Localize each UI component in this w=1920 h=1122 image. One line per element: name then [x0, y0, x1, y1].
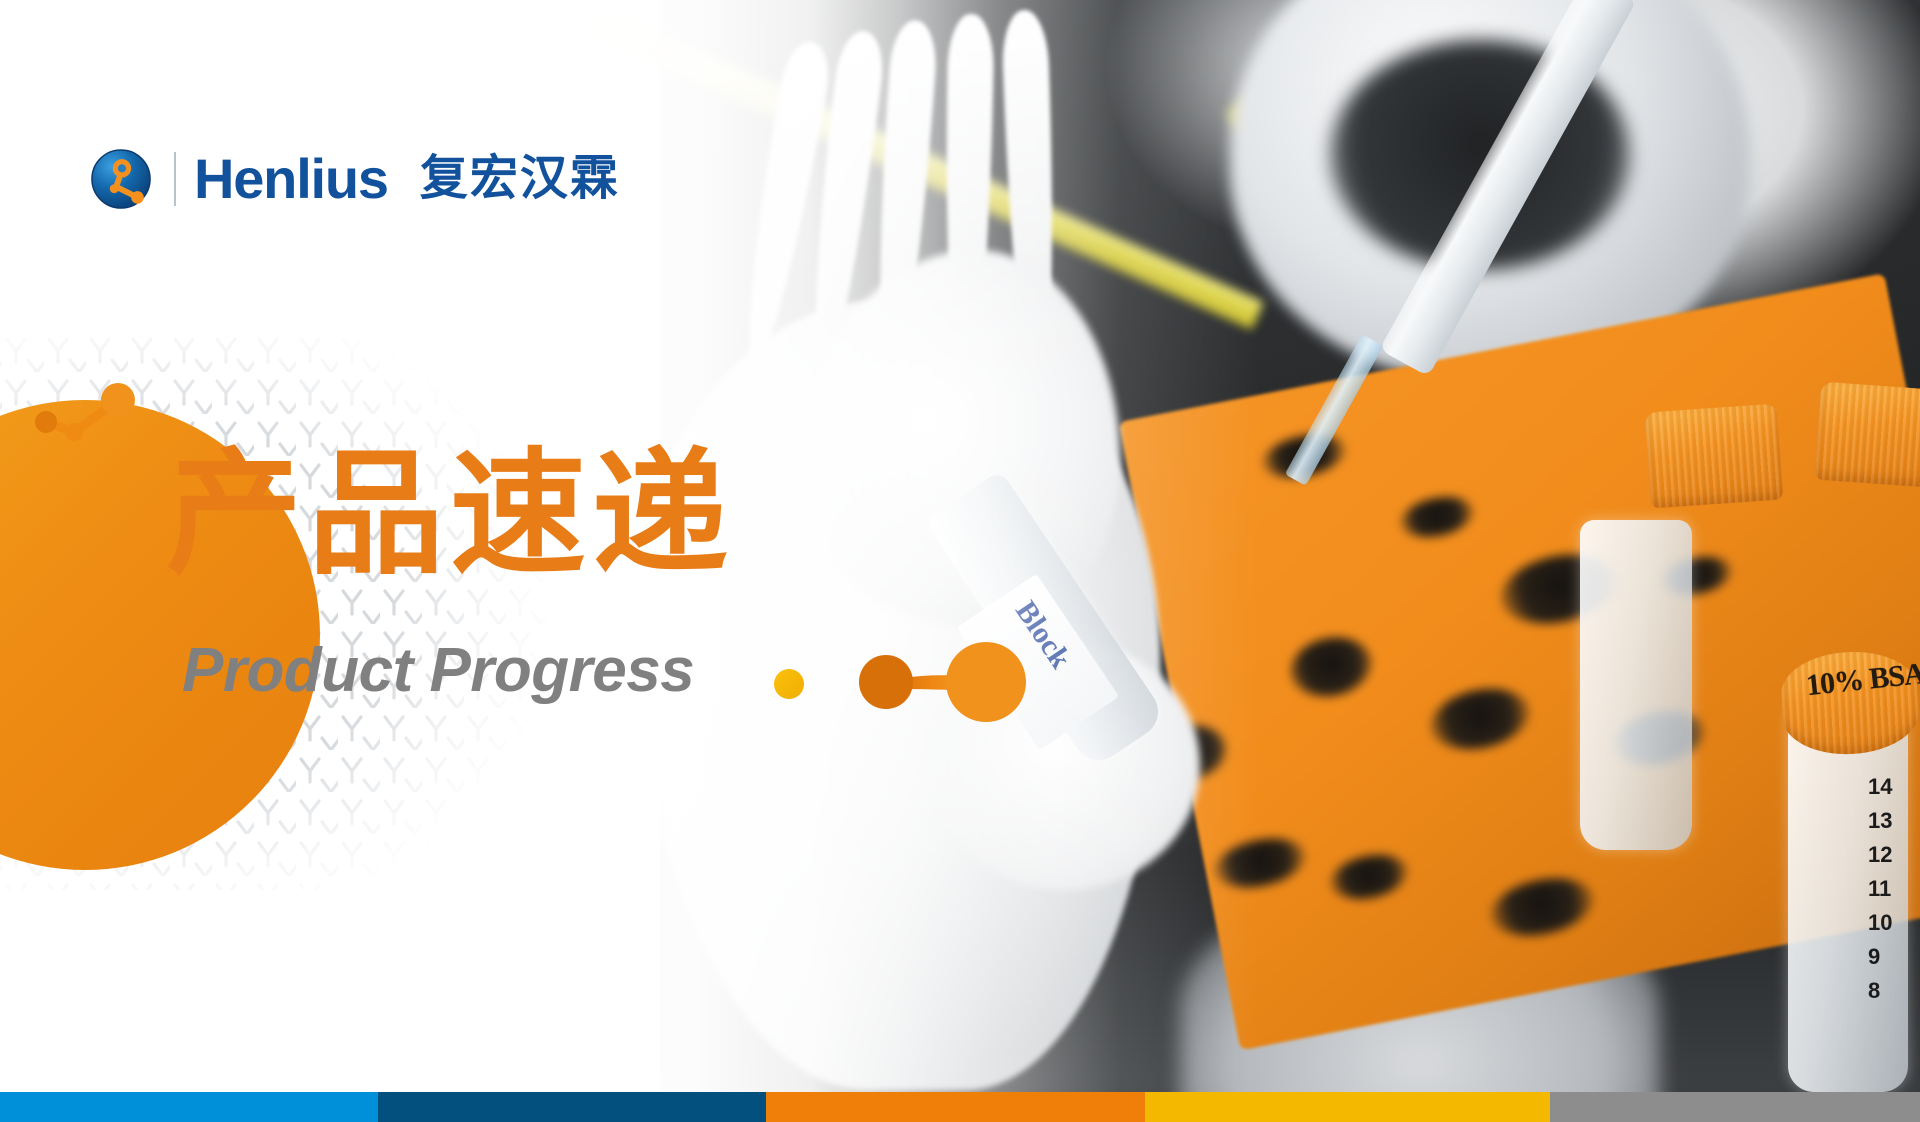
henlius-molecule-circle-logo: [90, 148, 152, 210]
graduation-mark: 11: [1868, 872, 1892, 906]
graduation-mark: 10: [1868, 906, 1892, 940]
segment-yellow: [1145, 1092, 1550, 1122]
segment-gray: [1550, 1092, 1920, 1122]
tube-graduations: 14 13 12 11 10 9 8: [1868, 770, 1892, 1008]
page-title-chinese: 产品速递: [166, 446, 734, 582]
segment-orange: [766, 1092, 1145, 1122]
yellow-dot: [774, 669, 804, 699]
logo-divider: [174, 152, 176, 206]
orange-dumbbell-molecule-icon: [852, 640, 1032, 725]
logo-chinese-name: 复宏汉霖: [420, 155, 620, 203]
slide-root: Block 10% BSA 14 13 12 11 10: [0, 0, 1920, 1122]
graduation-mark: 8: [1868, 974, 1892, 1008]
segment-dark-blue: [378, 1092, 766, 1122]
brand-color-bar: [0, 1092, 1920, 1122]
graduation-mark: 9: [1868, 940, 1892, 974]
tube-cap: [1815, 382, 1920, 489]
graduation-mark: 12: [1868, 838, 1892, 872]
tube-cap: [1645, 404, 1783, 509]
page-title-english: Product Progress: [182, 640, 694, 702]
graduation-mark: 13: [1868, 804, 1892, 838]
graduation-mark: 14: [1868, 770, 1892, 804]
tube-clear: [1580, 520, 1692, 850]
cap-ribs: [1815, 382, 1920, 489]
orange-molecule-icon: [30, 380, 150, 460]
cap-ribs: [1645, 404, 1783, 509]
logo-english-name: Henlius: [194, 151, 388, 207]
henlius-logo[interactable]: Henlius 复宏汉霖: [90, 148, 620, 210]
segment-light-blue: [0, 1092, 378, 1122]
